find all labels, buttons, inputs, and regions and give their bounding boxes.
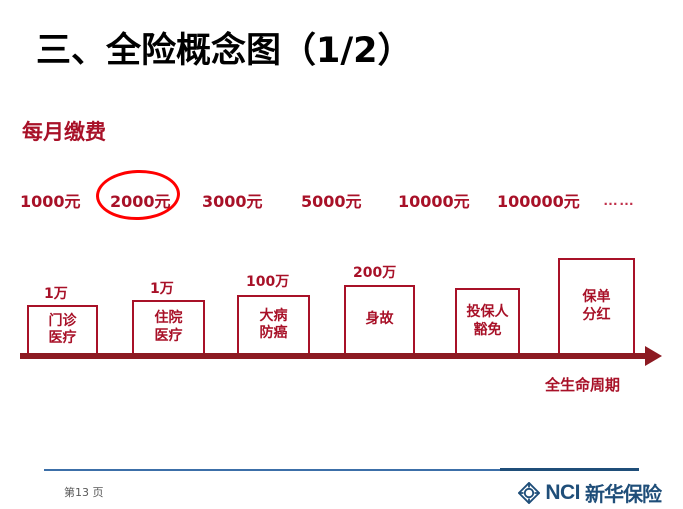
timeline-chart: 门诊 医疗1万住院 医疗1万大病 防癌100万身故200万投保人 豁免保单 分红… [0, 240, 683, 400]
timeline-axis-line [20, 353, 650, 359]
coverage-bar-amount: 1万 [44, 283, 68, 303]
coverage-bar-label: 大病 防癌 [260, 308, 288, 343]
coverage-bar-amount: 100万 [246, 271, 289, 291]
coverage-bar[interactable]: 保单 分红 [558, 258, 635, 355]
coverage-bar-amount: 200万 [353, 262, 396, 282]
timeline-axis-arrow-icon [645, 346, 662, 366]
coverage-bar-label: 住院 医疗 [155, 310, 183, 345]
premium-tier-item[interactable]: 5000元 [301, 188, 362, 212]
section-heading: 每月缴费 [22, 116, 106, 146]
premium-tier-item[interactable]: 100000元 [497, 188, 580, 212]
coverage-bar-label: 投保人 豁免 [467, 304, 509, 339]
premium-tier-row: 1000元2000元3000元5000元10000元100000元…… [0, 188, 683, 216]
premium-tier-item[interactable]: 10000元 [398, 188, 470, 212]
page-number: 第13 页 [64, 484, 104, 500]
coverage-bar[interactable]: 住院 医疗 [132, 300, 205, 355]
premium-tier-item[interactable]: 1000元 [20, 188, 81, 212]
brand-logo: NCI 新华保险 [518, 478, 661, 507]
coverage-bar-label: 门诊 医疗 [49, 313, 77, 348]
premium-tier-item[interactable]: 2000元 [110, 188, 171, 212]
coverage-bar[interactable]: 门诊 医疗 [27, 305, 98, 355]
coverage-bar-label: 身故 [366, 311, 394, 329]
axis-caption: 全生命周期 [545, 374, 620, 395]
coverage-bar[interactable]: 投保人 豁免 [455, 288, 520, 355]
premium-tier-item[interactable]: 3000元 [202, 188, 263, 212]
coverage-bar-amount: 1万 [150, 278, 174, 298]
footer-divider-accent [500, 468, 639, 471]
coverage-bar-label: 保单 分红 [583, 289, 611, 324]
brand-name: 新华保险 [585, 478, 661, 507]
coverage-bar[interactable]: 大病 防癌 [237, 295, 310, 355]
diamond-compass-icon [518, 482, 540, 504]
coverage-bar[interactable]: 身故 [344, 285, 415, 355]
premium-tier-ellipsis: …… [603, 192, 635, 209]
page-title: 三、全险概念图（1/2） [36, 22, 413, 73]
brand-abbreviation: NCI [545, 481, 580, 505]
